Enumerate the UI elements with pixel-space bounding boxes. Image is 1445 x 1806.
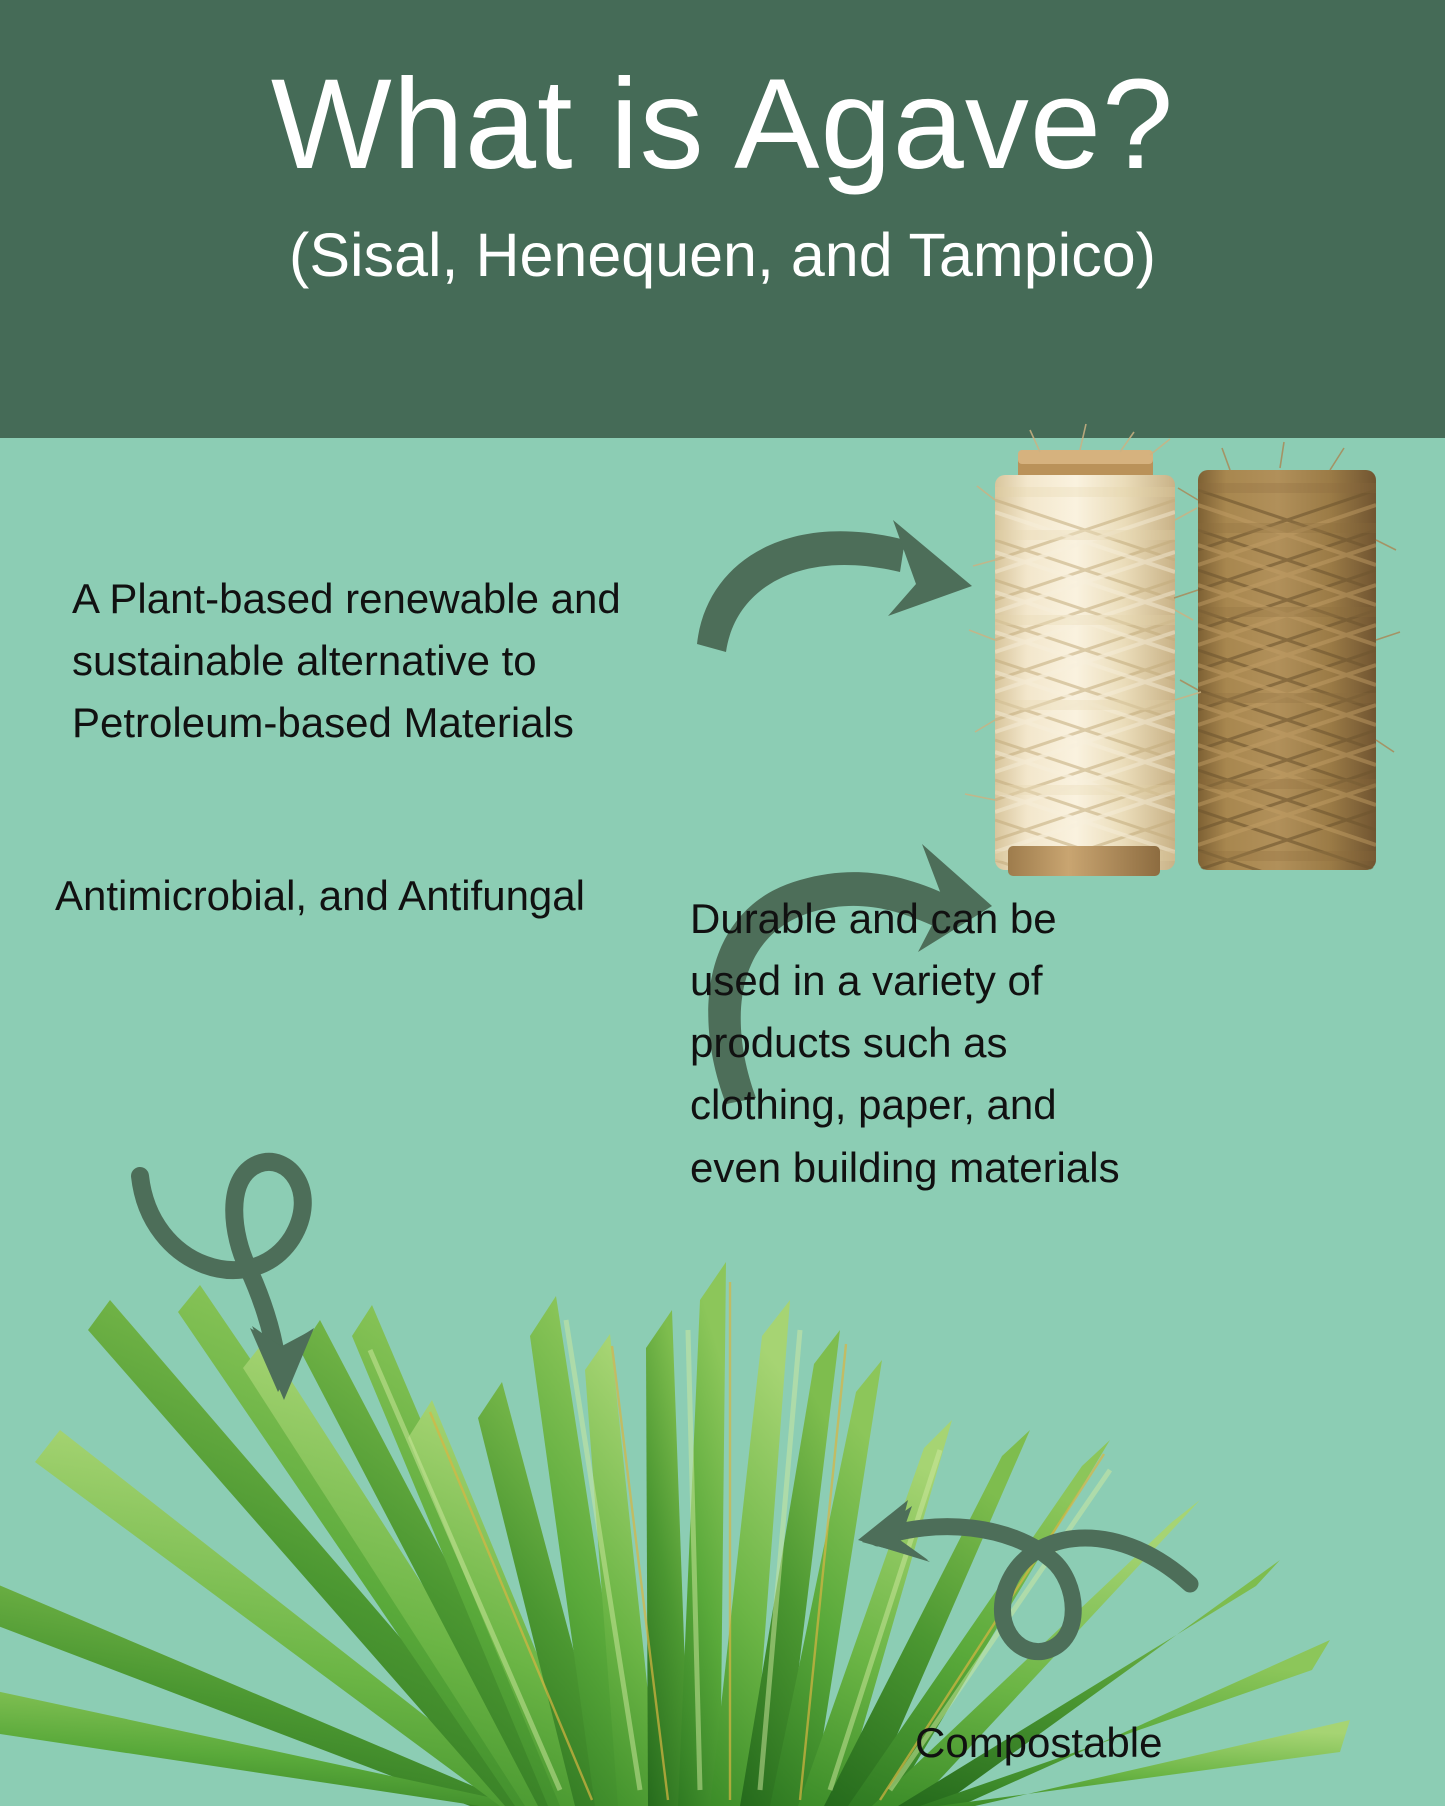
infographic-poster: What is Agave? (Sisal, Henequen, and Tam… bbox=[0, 0, 1445, 1806]
callout-text-group: A Plant-based renewable and sustainable … bbox=[0, 0, 1445, 1806]
callout-compostable: Compostable bbox=[915, 1712, 1335, 1774]
callout-durable: Durable and can be used in a variety of … bbox=[690, 888, 1140, 1199]
callout-plant-based: A Plant-based renewable and sustainable … bbox=[72, 568, 752, 754]
callout-antimicrobial: Antimicrobial, and Antifungal bbox=[55, 865, 615, 927]
